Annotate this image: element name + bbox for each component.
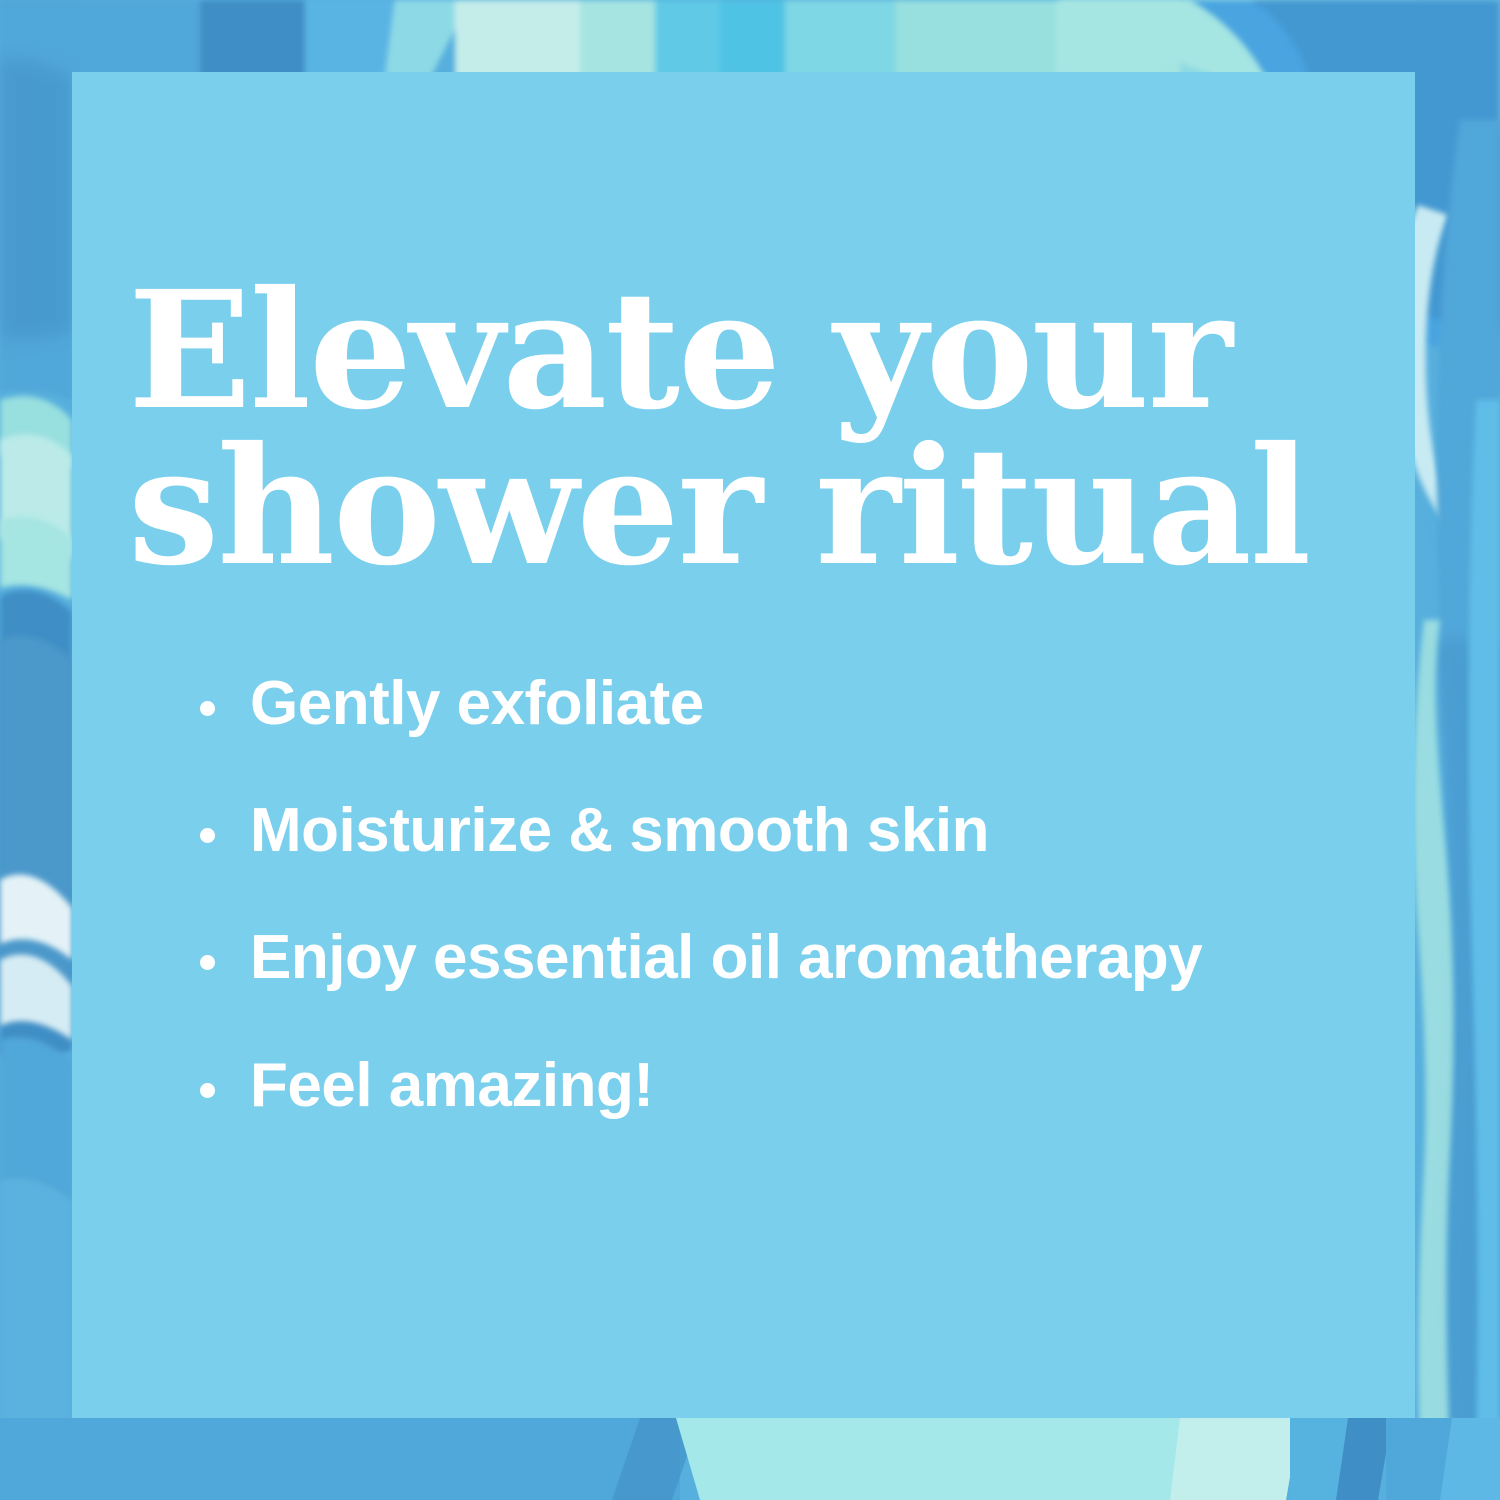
bullet-dot-icon: [200, 1083, 215, 1098]
list-item-label: Gently exfoliate: [250, 669, 704, 738]
list-item-label: Moisturize & smooth skin: [250, 796, 989, 865]
headline-line-1: Elevate your: [128, 274, 1308, 430]
benefits-list: Gently exfoliate Moisturize & smooth ski…: [128, 672, 1328, 1117]
page-title: Elevate your shower ritual: [128, 274, 1308, 585]
list-item: Moisturize & smooth skin: [128, 799, 1328, 862]
bullet-dot-icon: [200, 828, 215, 843]
list-item: Gently exfoliate: [128, 672, 1328, 735]
list-item: Feel amazing!: [128, 1054, 1328, 1117]
headline-line-2: shower ritual: [128, 430, 1308, 586]
list-item-label: Enjoy essential oil aromatherapy: [250, 923, 1202, 992]
bullet-dot-icon: [200, 701, 215, 716]
bullet-dot-icon: [200, 955, 215, 970]
marketing-graphic: Elevate your shower ritual Gently exfoli…: [0, 0, 1500, 1500]
list-item: Enjoy essential oil aromatherapy: [128, 926, 1328, 989]
list-item-label: Feel amazing!: [250, 1051, 654, 1120]
